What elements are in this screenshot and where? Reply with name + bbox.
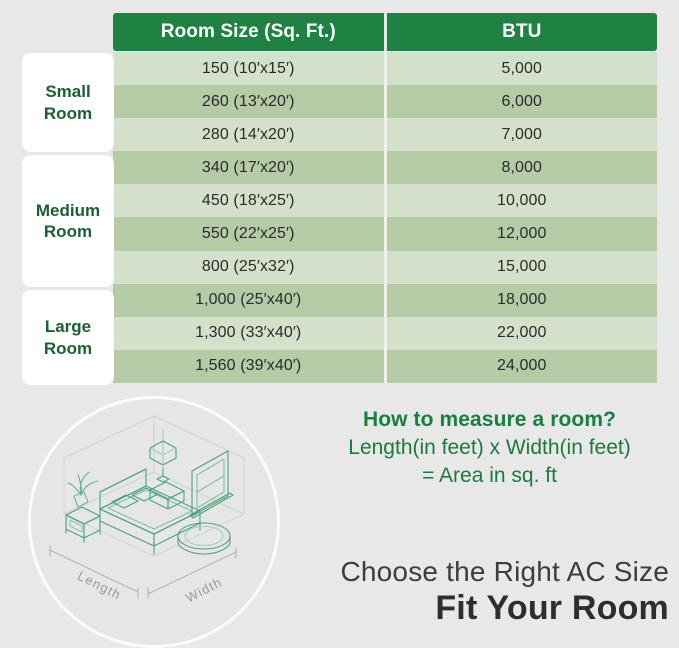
table-row: 340 (17′x20′)8,000 bbox=[113, 151, 657, 184]
category-card-small-room: Small Room bbox=[22, 53, 114, 152]
table-row: 450 (18′x25′)10,000 bbox=[113, 184, 657, 217]
table-body: 150 (10′x15′)5,000260 (13′x20′)6,000280 … bbox=[113, 52, 657, 383]
measure-formula-line-2: = Area in sq. ft bbox=[300, 464, 679, 488]
how-to-measure-block: How to measure a room? Length(in feet) x… bbox=[300, 408, 679, 488]
cell-room-size: 1,560 (39′x40′) bbox=[113, 350, 384, 383]
cell-room-size: 450 (18′x25′) bbox=[113, 184, 384, 217]
cell-room-size: 260 (13′x20′) bbox=[113, 85, 384, 118]
cell-btu: 8,000 bbox=[384, 151, 658, 184]
table-row: 550 (22′x25′)12,000 bbox=[113, 217, 657, 250]
column-header-btu: BTU bbox=[384, 13, 658, 51]
table-row: 260 (13′x20′)6,000 bbox=[113, 85, 657, 118]
btu-sizing-table: Room Size (Sq. Ft.) BTU 150 (10′x15′)5,0… bbox=[113, 13, 657, 384]
cell-room-size: 1,000 (25′x40′) bbox=[113, 284, 384, 317]
category-label-large-room: Large Room bbox=[44, 316, 92, 359]
isometric-bedroom-icon bbox=[28, 396, 280, 648]
cell-room-size: 800 (25′x32′) bbox=[113, 251, 384, 284]
headline-block: Choose the Right AC Size Fit Your Room bbox=[300, 556, 669, 627]
headline-line-1: Choose the Right AC Size bbox=[300, 556, 669, 587]
cell-btu: 22,000 bbox=[384, 317, 658, 350]
measure-formula-line-1: Length(in feet) x Width(in feet) bbox=[300, 436, 679, 460]
cell-room-size: 150 (10′x15′) bbox=[113, 52, 384, 85]
cell-btu: 15,000 bbox=[384, 251, 658, 284]
cell-btu: 12,000 bbox=[384, 217, 658, 250]
category-label-medium-room: Medium Room bbox=[36, 200, 100, 243]
cell-room-size: 1,300 (33′x40′) bbox=[113, 317, 384, 350]
table-header-row: Room Size (Sq. Ft.) BTU bbox=[113, 13, 657, 51]
cell-btu: 5,000 bbox=[384, 52, 658, 85]
cell-room-size: 280 (14′x20′) bbox=[113, 118, 384, 151]
category-card-large-room: Large Room bbox=[22, 290, 114, 385]
room-illustration: Length Width bbox=[28, 396, 280, 648]
table-row: 1,000 (25′x40′)18,000 bbox=[113, 284, 657, 317]
cell-btu: 10,000 bbox=[384, 184, 658, 217]
table-row: 1,300 (33′x40′)22,000 bbox=[113, 317, 657, 350]
cell-btu: 6,000 bbox=[384, 85, 658, 118]
cell-btu: 24,000 bbox=[384, 350, 658, 383]
table-row: 150 (10′x15′)5,000 bbox=[113, 52, 657, 85]
category-card-medium-room: Medium Room bbox=[22, 155, 114, 287]
table-row: 800 (25′x32′)15,000 bbox=[113, 251, 657, 284]
headline-line-2: Fit Your Room bbox=[300, 589, 669, 627]
cell-room-size: 340 (17′x20′) bbox=[113, 151, 384, 184]
table-row: 1,560 (39′x40′)24,000 bbox=[113, 350, 657, 383]
table-row: 280 (14′x20′)7,000 bbox=[113, 118, 657, 151]
cell-btu: 18,000 bbox=[384, 284, 658, 317]
cell-room-size: 550 (22′x25′) bbox=[113, 217, 384, 250]
cell-btu: 7,000 bbox=[384, 118, 658, 151]
column-header-room-size: Room Size (Sq. Ft.) bbox=[113, 13, 384, 51]
measure-title: How to measure a room? bbox=[300, 408, 679, 432]
category-label-small-room: Small Room bbox=[44, 81, 92, 124]
